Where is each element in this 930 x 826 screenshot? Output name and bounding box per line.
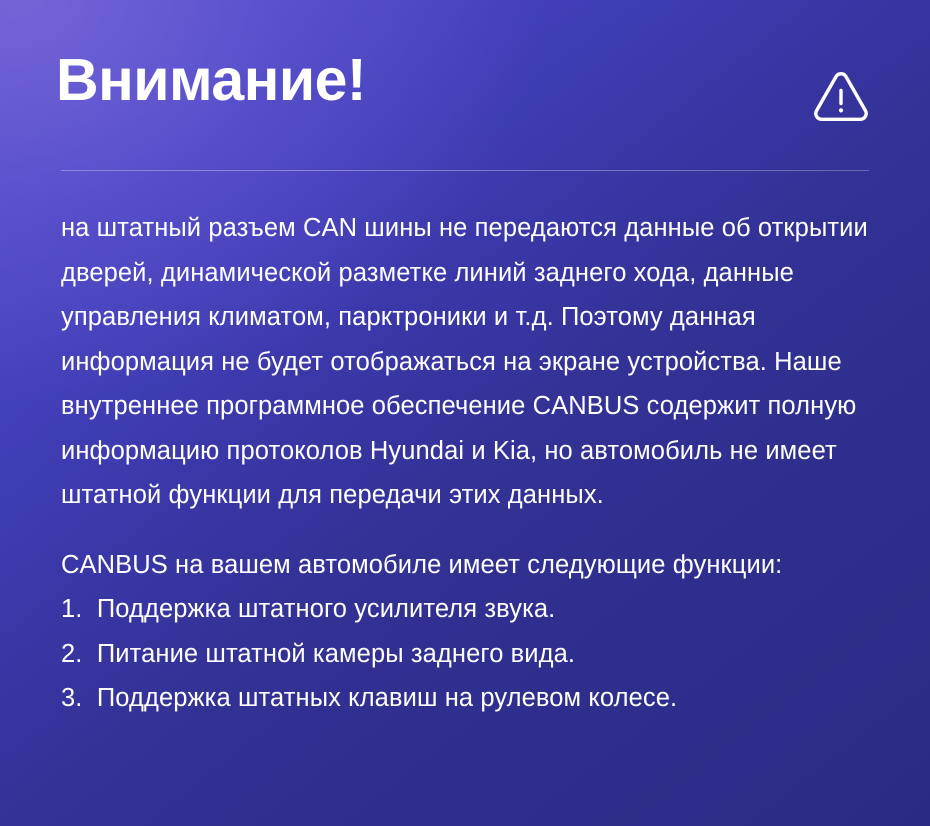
warning-poster: Внимание! на штатный разъем CAN шины не …	[0, 0, 930, 826]
list-item-number: 1.	[61, 595, 90, 623]
list-item-number: 2.	[61, 640, 90, 668]
poster-content: на штатный разъем CAN шины не передаются…	[61, 206, 879, 721]
warning-paragraph: на штатный разъем CAN шины не передаются…	[61, 206, 879, 518]
page-title: Внимание!	[56, 51, 366, 110]
list-item-label: Поддержка штатного усилителя звука.	[97, 595, 556, 623]
warning-triangle-icon	[812, 70, 870, 126]
features-intro: CANBUS на вашем автомобиле имеет следующ…	[61, 518, 879, 588]
list-item: 2. Питание штатной камеры заднего вида.	[61, 632, 879, 677]
header-divider	[61, 170, 869, 171]
list-item-label: Поддержка штатных клавиш на рулевом коле…	[97, 684, 677, 712]
poster-header: Внимание!	[0, 0, 930, 171]
list-item: 3. Поддержка штатных клавиш на рулевом к…	[61, 676, 879, 721]
list-item: 1. Поддержка штатного усилителя звука.	[61, 587, 879, 632]
list-item-number: 3.	[61, 684, 90, 712]
list-item-label: Питание штатной камеры заднего вида.	[97, 640, 575, 668]
features-list: 1. Поддержка штатного усилителя звука. 2…	[61, 587, 879, 721]
